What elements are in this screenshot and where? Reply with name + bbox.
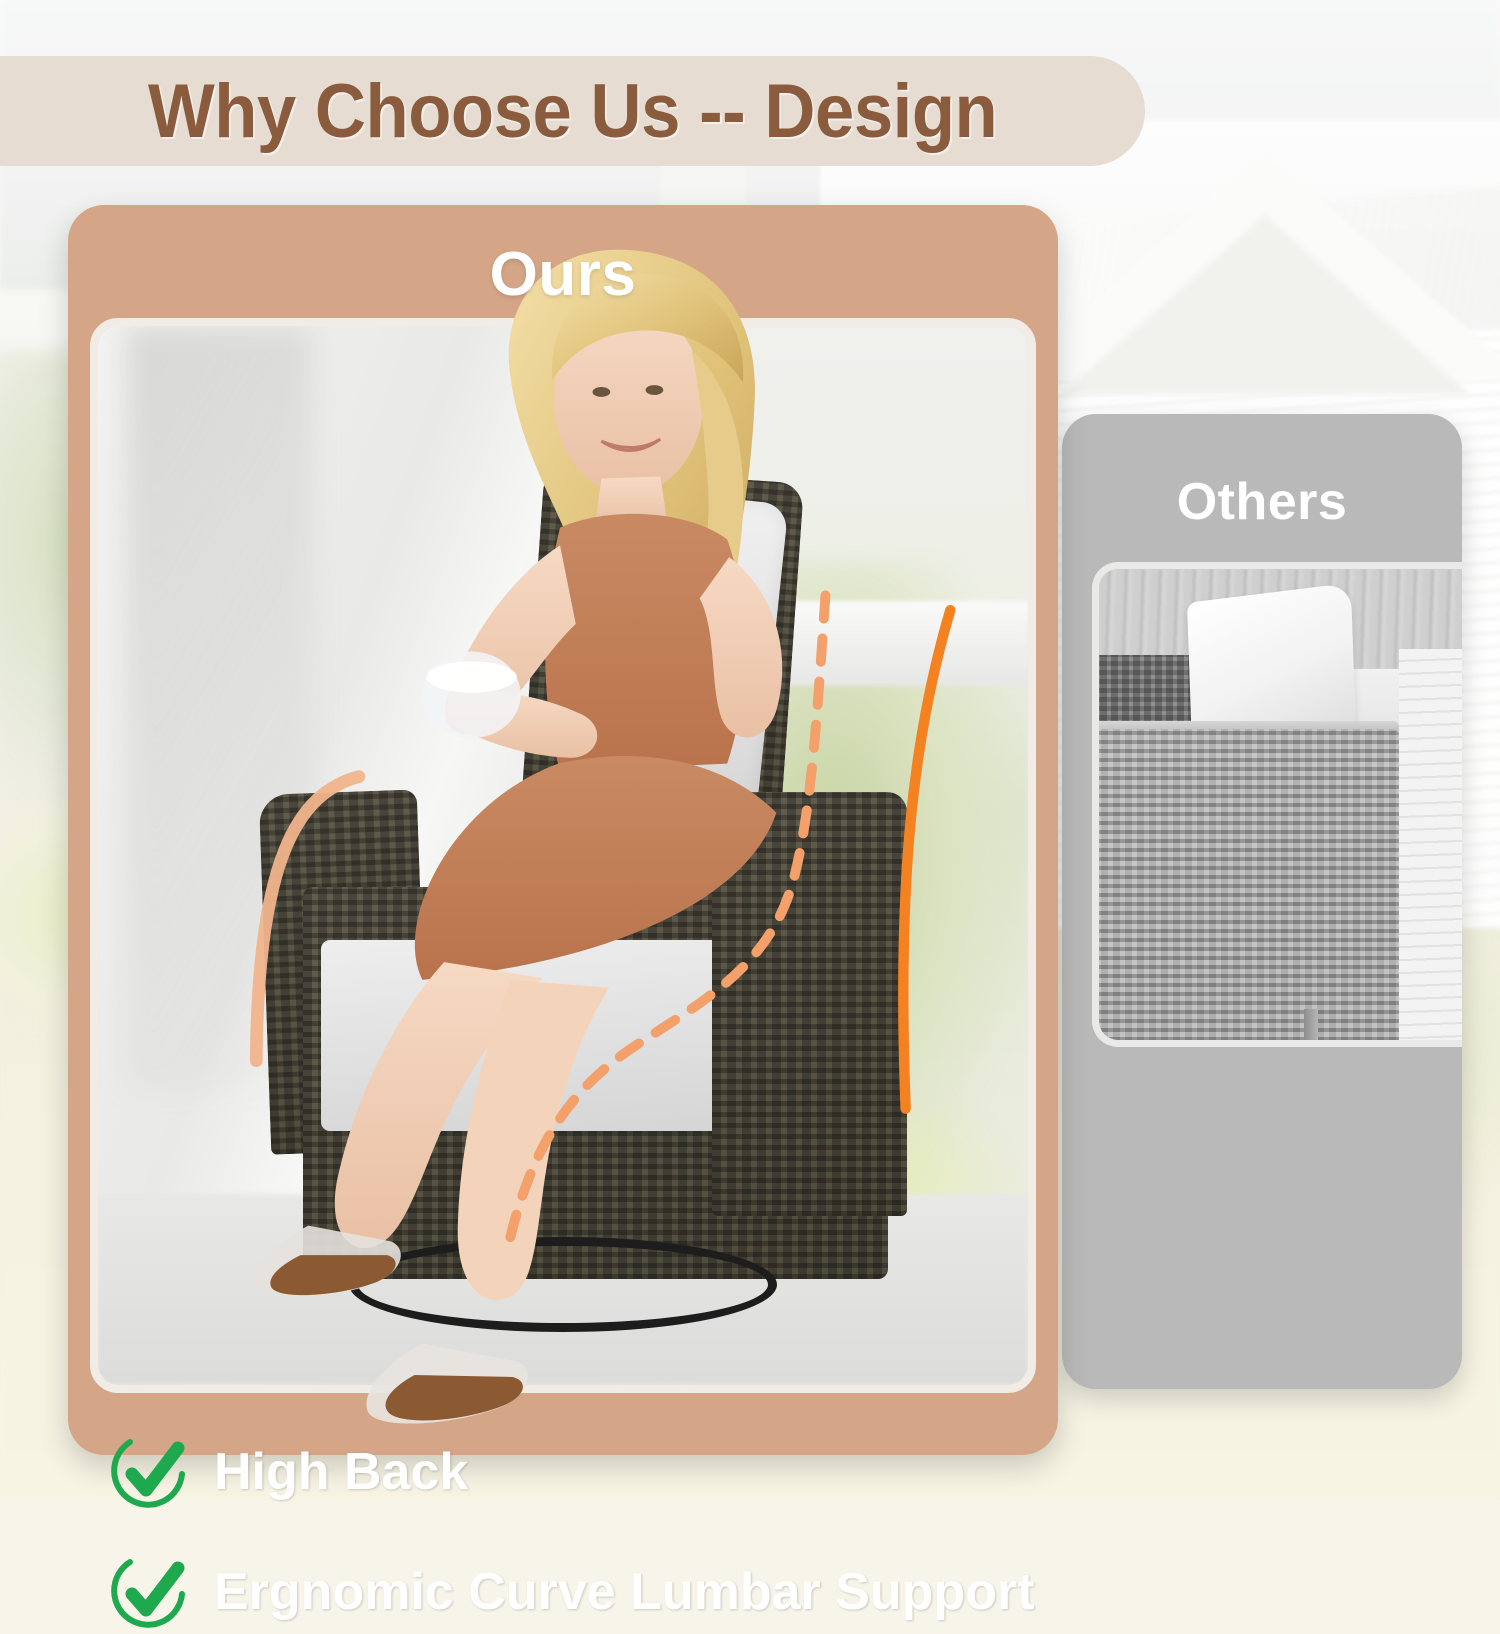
others-sofa-seat [1092,729,1399,1047]
ours-panel-title: Ours [68,239,1058,310]
ours-feature-label: Ergnomic Curve Lumbar Support [214,1562,1035,1622]
others-photo-siding [1399,649,1462,1047]
arm-curve-accent [228,750,377,1089]
others-sofa-leg [1304,1009,1318,1047]
lumbar-contour-dashed-accent [358,559,897,1279]
page-title: Why Choose Us -- Design [148,68,997,155]
others-photo [1099,569,1462,1040]
ours-feature-row: High Back [108,1430,468,1514]
green-check-icon [108,1550,192,1634]
others-photo-frame [1092,562,1462,1047]
others-panel-title: Others [1062,472,1462,532]
background-gable-inner [1060,215,1470,395]
green-check-icon [108,1430,192,1514]
ours-feature-label: High Back [214,1442,468,1502]
ours-panel: Ours [68,205,1058,1455]
ours-feature-row: Ergnomic Curve Lumbar Support [108,1550,1035,1634]
title-banner: Why Choose Us -- Design [0,56,1145,166]
ours-photo [98,326,1028,1385]
others-panel: Others Short Back Straig [1062,414,1462,1389]
ours-photo-frame [90,318,1036,1393]
